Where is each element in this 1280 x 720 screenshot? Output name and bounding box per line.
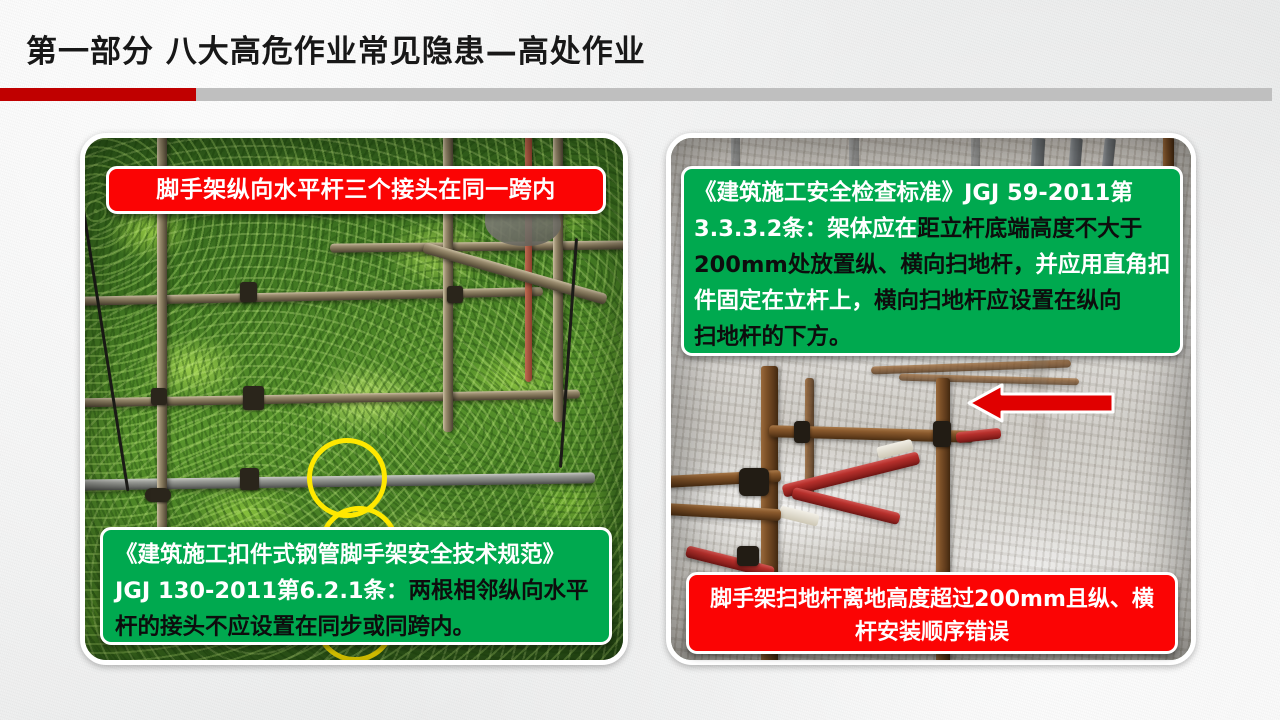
callout-span: 距立杆底端高度不大于 <box>917 216 1142 242</box>
callout-span: 两根相邻纵向水平 <box>409 578 589 604</box>
callout-line: JGJ 130-2011第6.2.1条：两根相邻纵向水平 <box>115 573 599 609</box>
callout-line: 200mm处放置纵、横向扫地杆，并应用直角扣 <box>694 247 1170 283</box>
callout-span: 3.3.3.2条：架体应在 <box>694 216 917 242</box>
callout-line: 扫地杆的下方。 <box>694 319 1170 355</box>
callout-span: 《建筑施工扣件式钢管脚手架安全技术规范》 <box>115 542 565 568</box>
red-arrow-icon <box>966 381 1116 425</box>
callout-line: 杆的接头不应设置在同步或同跨内。 <box>115 609 599 645</box>
title-underline-rule <box>0 88 1272 101</box>
right-top-callout: 《建筑施工安全检查标准》JGJ 59-2011第 3.3.3.2条：架体应在距立… <box>681 166 1183 356</box>
rule-red-segment <box>0 88 196 101</box>
callout-span: 《建筑施工安全检查标准》JGJ 59-2011第 <box>694 180 1133 206</box>
callout-span: JGJ 130-2011第6.2.1条： <box>115 578 409 604</box>
callout-line: 《建筑施工扣件式钢管脚手架安全技术规范》 <box>115 537 599 573</box>
callout-span: 横向扫地杆应设置在纵向 <box>874 288 1122 314</box>
right-bottom-callout: 脚手架扫地杆离地高度超过200mm且纵、横 杆安装顺序错误 <box>686 572 1178 654</box>
page-title: 第一部分 八大高危作业常见隐患—高处作业 <box>26 26 646 71</box>
rule-gray-segment <box>196 88 1272 101</box>
slide-canvas: 第一部分 八大高危作业常见隐患—高处作业 <box>0 0 1280 720</box>
callout-span: 杆的接头不应设置在同步或同跨内。 <box>115 614 475 640</box>
callout-line: 杆安装顺序错误 <box>697 616 1167 649</box>
left-top-callout: 脚手架纵向水平杆三个接头在同一跨内 <box>106 166 606 214</box>
callout-line: 3.3.3.2条：架体应在距立杆底端高度不大于 <box>694 211 1170 247</box>
left-top-callout-text: 脚手架纵向水平杆三个接头在同一跨内 <box>156 177 556 203</box>
callout-line: 脚手架扫地杆离地高度超过200mm且纵、横 <box>697 583 1167 616</box>
callout-line: 《建筑施工安全检查标准》JGJ 59-2011第 <box>694 175 1170 211</box>
callout-span: 200mm处放置纵、横向扫地杆， <box>694 252 1035 278</box>
callout-span: 扫地杆的下方。 <box>694 324 852 350</box>
callout-span: 件固定在立杆上， <box>694 288 874 314</box>
callout-span: 并应用直角扣 <box>1035 252 1170 278</box>
callout-line: 件固定在立杆上，横向扫地杆应设置在纵向 <box>694 283 1170 319</box>
left-bottom-callout: 《建筑施工扣件式钢管脚手架安全技术规范》 JGJ 130-2011第6.2.1条… <box>100 527 612 645</box>
